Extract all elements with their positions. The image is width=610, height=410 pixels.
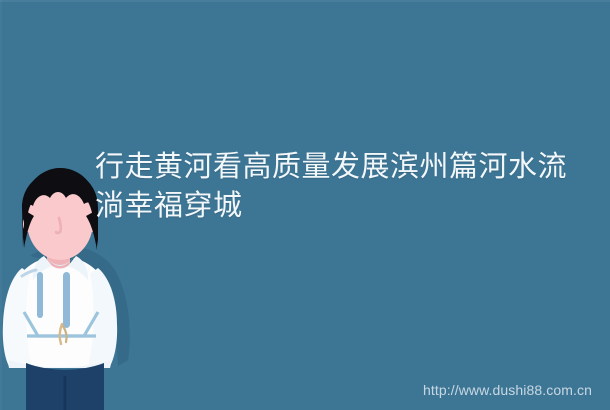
top-edge-hairline — [0, 0, 610, 2]
image-canvas: 行走黄河看高质量发展滨州篇河水流淌幸福穿城 http://www.dushi88… — [0, 0, 610, 410]
watermark-url: http://www.dushi88.com.cn — [423, 382, 592, 398]
hoodie-drawstring-left — [37, 272, 43, 318]
hoodie-drawstring-right — [63, 272, 70, 328]
headline-text: 行走黄河看高质量发展滨州篇河水流淌幸福穿城 — [95, 148, 585, 226]
